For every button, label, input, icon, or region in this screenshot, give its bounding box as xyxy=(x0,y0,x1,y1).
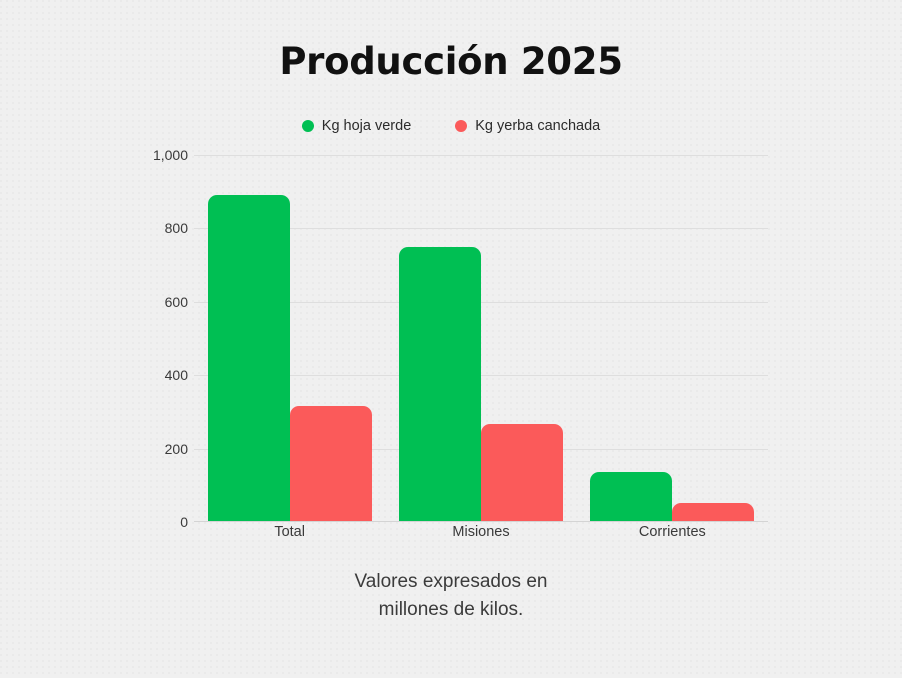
legend-label-hoja-verde: Kg hoja verde xyxy=(322,118,411,134)
y-axis-tick-label: 800 xyxy=(165,220,188,236)
bar-misiones-yerba-canchada[interactable] xyxy=(481,424,563,522)
legend-item-hoja-verde[interactable]: Kg hoja verde xyxy=(302,118,411,134)
y-axis-tick-label: 400 xyxy=(165,367,188,383)
legend-item-yerba-canchada[interactable]: Kg yerba canchada xyxy=(455,118,600,134)
x-axis-tick-label: Misiones xyxy=(452,524,509,540)
y-axis-tick-label: 600 xyxy=(165,294,188,310)
legend-swatch-red-icon xyxy=(455,120,467,132)
bar-total-hoja-verde[interactable] xyxy=(208,195,290,522)
legend-label-yerba-canchada: Kg yerba canchada xyxy=(475,118,600,134)
x-axis: TotalMisionesCorrientes xyxy=(194,524,768,548)
bar-total-yerba-canchada[interactable] xyxy=(290,406,372,522)
bar-corrientes-yerba-canchada[interactable] xyxy=(672,503,754,522)
bar-misiones-hoja-verde[interactable] xyxy=(399,247,481,522)
chart-legend: Kg hoja verde Kg yerba canchada xyxy=(0,118,902,134)
x-axis-tick-label: Total xyxy=(274,524,305,540)
bars-layer xyxy=(194,155,768,522)
caption-line-1: Valores expresados en xyxy=(0,568,902,596)
y-axis-tick-label: 1,000 xyxy=(153,147,188,163)
axis-baseline xyxy=(194,521,768,522)
caption-line-2: millones de kilos. xyxy=(0,596,902,624)
y-axis-tick-label: 0 xyxy=(180,514,188,530)
legend-swatch-green-icon xyxy=(302,120,314,132)
plot-area xyxy=(194,155,768,522)
y-axis: 02004006008001,000 xyxy=(100,155,188,522)
chart-title: Producción 2025 xyxy=(0,40,902,83)
x-axis-tick-label: Corrientes xyxy=(639,524,706,540)
y-axis-tick-label: 200 xyxy=(165,441,188,457)
bar-corrientes-hoja-verde[interactable] xyxy=(590,472,672,522)
chart-caption: Valores expresados en millones de kilos. xyxy=(0,568,902,624)
chart-card: Producción 2025 Kg hoja verde Kg yerba c… xyxy=(0,0,902,678)
